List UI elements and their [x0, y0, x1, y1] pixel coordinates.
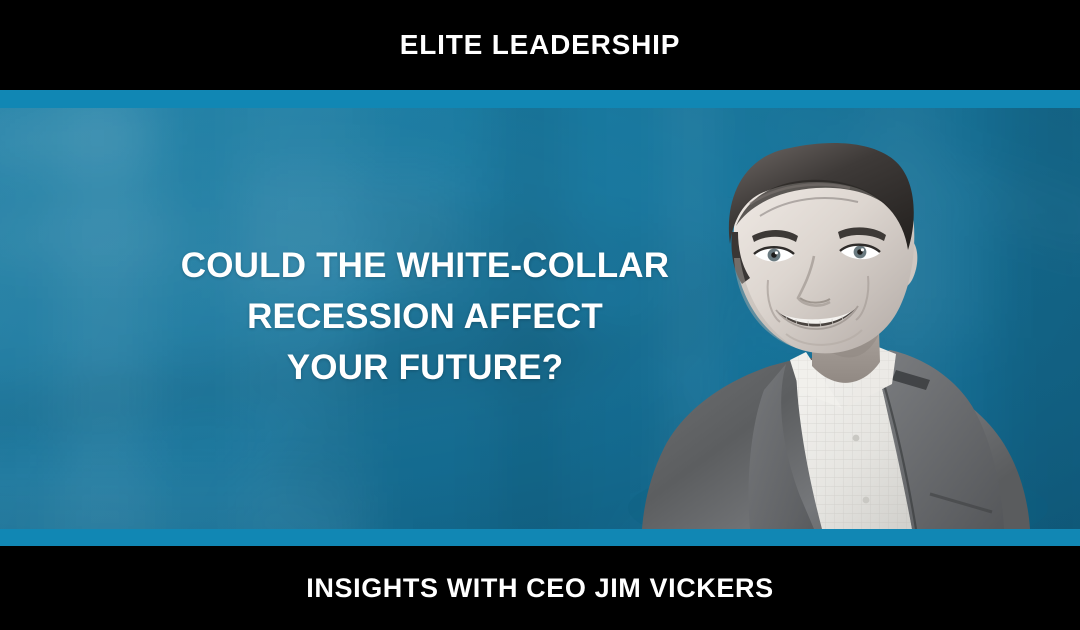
- accent-band-bottom: [0, 529, 1080, 546]
- headline-line-2: RECESSION AFFECT: [60, 291, 790, 342]
- slide-card: ELITE LEADERSHIP: [0, 0, 1080, 630]
- bottom-banner: INSIGHTS WITH CEO JIM VICKERS: [0, 546, 1080, 630]
- accent-band-top: [0, 90, 1080, 108]
- headline: COULD THE WHITE-COLLAR RECESSION AFFECT …: [60, 240, 790, 393]
- top-banner-title: ELITE LEADERSHIP: [400, 31, 680, 59]
- bottom-banner-title: INSIGHTS WITH CEO JIM VICKERS: [306, 575, 773, 602]
- top-banner: ELITE LEADERSHIP: [0, 0, 1080, 90]
- stage: COULD THE WHITE-COLLAR RECESSION AFFECT …: [0, 108, 1080, 529]
- headline-line-3: YOUR FUTURE?: [60, 342, 790, 393]
- headline-line-1: COULD THE WHITE-COLLAR: [60, 240, 790, 291]
